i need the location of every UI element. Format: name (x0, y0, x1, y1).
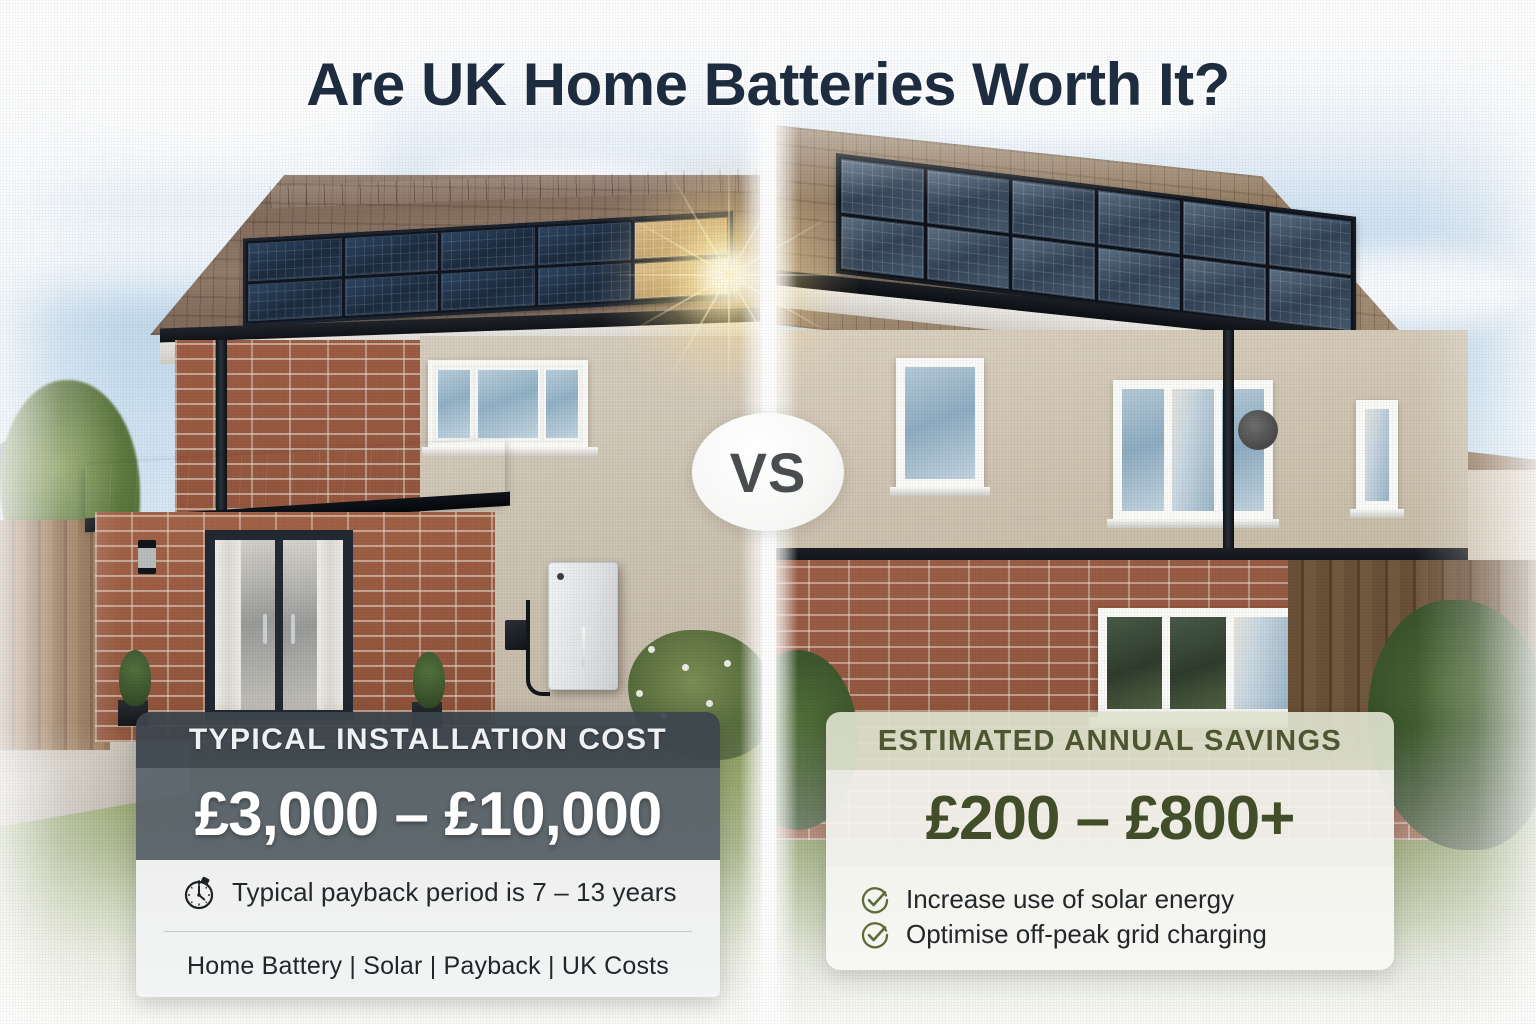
cost-card-header-label: TYPICAL INSTALLATION COST (189, 723, 667, 757)
window-sill (1107, 519, 1279, 528)
topic-tags: Home Battery | Solar | Payback | UK Cost… (160, 952, 696, 987)
solar-cell (841, 159, 924, 223)
benefit-text: Optimise off-peak grid charging (906, 919, 1267, 950)
door-handle (291, 614, 295, 644)
savings-card-header-label: ESTIMATED ANNUAL SAVINGS (878, 725, 1342, 758)
garden-fence-left (0, 520, 110, 750)
solar-cell (634, 257, 728, 300)
solar-cell (441, 268, 535, 311)
solar-cell (345, 273, 439, 316)
solar-cell (1012, 180, 1095, 244)
window-sill (890, 487, 990, 496)
solar-cell (1183, 257, 1266, 321)
solar-cell (1012, 236, 1095, 300)
topiary-shrub (119, 650, 151, 706)
window-pane (1105, 615, 1164, 711)
curtain (215, 540, 241, 710)
window-pane (1168, 615, 1227, 711)
payback-note-row: Typical payback period is 7 – 13 years (160, 874, 696, 910)
solar-cell (841, 215, 924, 279)
window-pane (903, 365, 977, 481)
solar-cell (1098, 190, 1181, 254)
vs-label: VS (730, 440, 807, 505)
curtain (317, 540, 343, 710)
solar-cell (927, 226, 1010, 290)
upstairs-window-narrow (1356, 400, 1398, 510)
topiary-shrub (413, 652, 445, 708)
benefit-item: Optimise off-peak grid charging (860, 919, 1364, 950)
cost-card-header: TYPICAL INSTALLATION COST (136, 712, 720, 768)
cost-card-body: Typical payback period is 7 – 13 years H… (136, 860, 720, 997)
home-battery-unit (548, 562, 618, 690)
isolator-box (505, 620, 527, 650)
window-pane (1170, 387, 1216, 513)
savings-value: £200 – £800+ (926, 783, 1295, 854)
benefit-item: Increase use of solar energy (860, 884, 1364, 915)
vs-badge: VS (692, 413, 844, 531)
downstairs-window (1098, 608, 1298, 718)
battery-cable (526, 600, 550, 696)
window-sill (1350, 509, 1404, 518)
annual-savings-card: ESTIMATED ANNUAL SAVINGS £200 – £800+ In… (826, 712, 1394, 970)
solar-cell (634, 217, 728, 260)
window-pane (1232, 615, 1291, 711)
stopwatch-icon (182, 874, 216, 910)
solar-cell (441, 227, 535, 270)
upstairs-window-left (428, 360, 588, 448)
satellite-dish-icon (1238, 410, 1278, 450)
solar-cell (1183, 201, 1266, 265)
solar-cell (538, 222, 632, 265)
cost-value: £3,000 – £10,000 (195, 779, 662, 850)
installation-cost-card: TYPICAL INSTALLATION COST £3,000 – £10,0… (136, 712, 720, 997)
window-pane (436, 368, 472, 440)
savings-card-body: Increase use of solar energy Optimise of… (826, 866, 1394, 970)
upstairs-window-wide (1113, 380, 1273, 520)
upstairs-window-small (896, 358, 984, 488)
window-pane (1363, 407, 1391, 503)
door-handle (263, 614, 267, 644)
cost-value-band: £3,000 – £10,000 (136, 768, 720, 860)
solar-cell (1098, 247, 1181, 311)
solar-cell (248, 279, 342, 322)
solar-cell (248, 238, 342, 281)
window-pane (544, 368, 580, 440)
savings-value-band: £200 – £800+ (826, 770, 1394, 866)
page-title: Are UK Home Batteries Worth It? (0, 50, 1536, 119)
check-circle-icon (860, 885, 890, 915)
benefit-text: Increase use of solar energy (906, 884, 1234, 915)
door-leaf-right (279, 536, 347, 714)
window-pane (476, 368, 540, 440)
payback-note-text: Typical payback period is 7 – 13 years (232, 877, 677, 908)
solar-cell (1269, 211, 1352, 275)
solar-cell (345, 233, 439, 276)
solar-cell (538, 262, 632, 305)
infographic-canvas: Are UK Home Batteries Worth It? VS TYPIC… (0, 0, 1536, 1024)
door-leaf-left (211, 536, 279, 714)
solar-cell (1269, 268, 1352, 332)
french-doors (205, 530, 353, 720)
window-pane (1120, 387, 1166, 513)
check-circle-icon (860, 920, 890, 950)
wall-lantern-icon (138, 540, 156, 574)
solar-cell (927, 169, 1010, 233)
savings-card-header: ESTIMATED ANNUAL SAVINGS (826, 712, 1394, 770)
card-divider (164, 931, 692, 932)
